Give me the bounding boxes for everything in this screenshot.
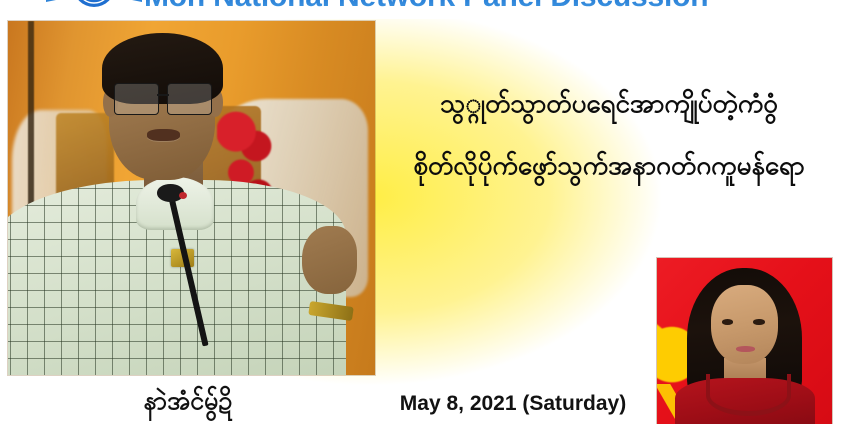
glasses-icon xyxy=(114,83,211,113)
headline-line-2: စိုတ်လိုပိုက်ဖွော်သွက်အနာဂတ်ဂကူမန်ရော xyxy=(378,134,840,196)
left-photo-lens-right xyxy=(167,83,212,115)
speaker-photo-left xyxy=(8,21,375,375)
left-photo-lens-left xyxy=(114,83,159,115)
left-photo-caption: နာဲအံင်မွ်ဍိ xyxy=(18,386,358,416)
speaker-photo-right xyxy=(657,258,832,424)
headline-line-1: သွ္ဂုတ်သွာတ်ပရေင်အာကျိုပ်တဲ့ကံဝွံ xyxy=(378,72,840,134)
presentation-slide: နာဲအံင်မွ်ဍိ သွ္ဂုတ်သွာတ်ပရေင်အာကျိုပ်တဲ… xyxy=(0,0,843,424)
left-photo-glasses-bridge xyxy=(157,94,169,96)
right-photo-eye-left xyxy=(722,319,733,324)
headline-block: သွ္ဂုတ်သွာတ်ပရေင်အာကျိုပ်တဲ့ကံဝွံ စိုတ်လ… xyxy=(378,72,840,196)
left-photo-mouth xyxy=(147,129,180,141)
right-photo-eye-right xyxy=(753,319,764,324)
mnn-logo-icon: M.N.N xyxy=(42,0,146,20)
page-title: Mon National Network Panel Discussion xyxy=(144,0,843,14)
right-photo-lips xyxy=(736,346,755,352)
right-photo-face xyxy=(711,285,778,365)
right-photo-bead-necklace xyxy=(706,374,791,416)
event-date: May 8, 2021 (Saturday) xyxy=(378,392,648,416)
left-photo-hand xyxy=(302,226,357,293)
